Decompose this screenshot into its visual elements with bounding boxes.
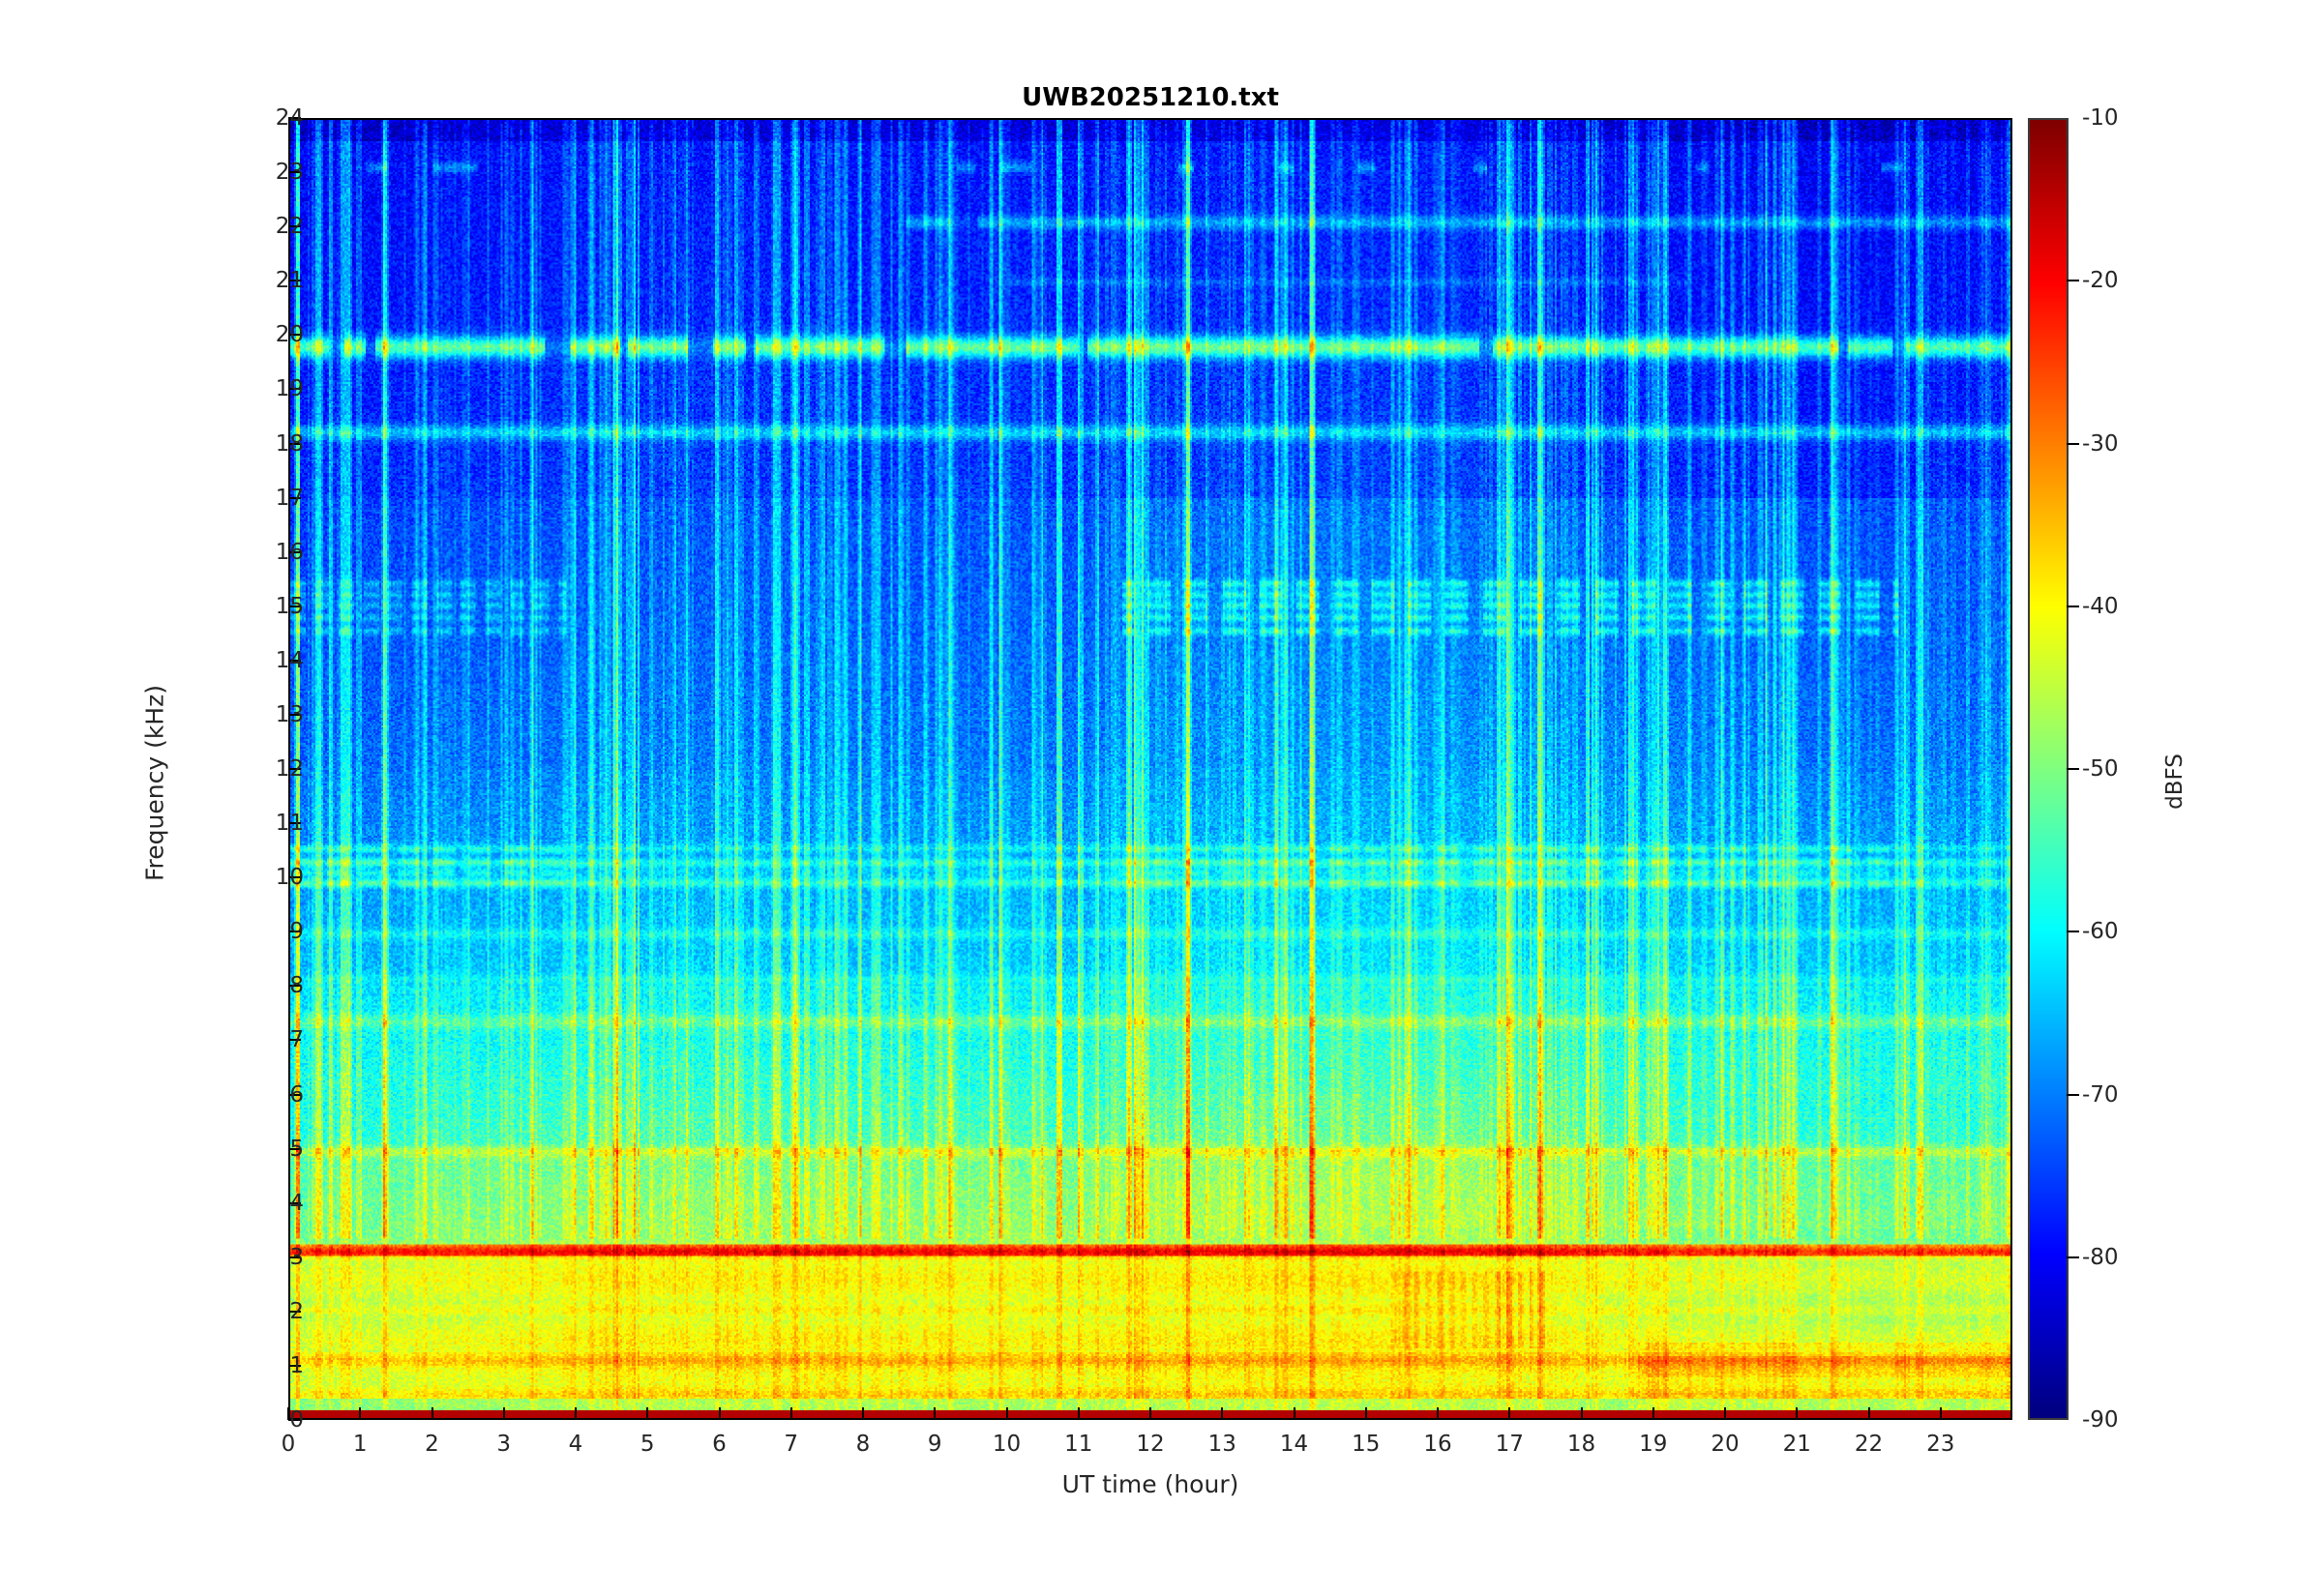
y-tick-label: 14: [188, 648, 304, 673]
x-tick-label: 4: [569, 1432, 583, 1457]
spectrogram-image: [290, 120, 2010, 1418]
x-tick-mark: [287, 1407, 289, 1420]
x-tick-label: 21: [1783, 1432, 1811, 1457]
x-tick-label: 11: [1064, 1432, 1092, 1457]
x-tick-mark: [862, 1407, 864, 1420]
colorbar-label: dBFS: [2162, 656, 2188, 907]
y-tick-label: 13: [188, 702, 304, 727]
x-tick-mark: [1365, 1407, 1367, 1420]
x-tick-mark: [1149, 1407, 1151, 1420]
colorbar-tick-label: -90: [2082, 1407, 2119, 1433]
x-tick-label: 9: [928, 1432, 942, 1457]
x-tick-mark: [1796, 1407, 1798, 1420]
x-tick-mark: [1221, 1407, 1223, 1420]
x-tick-label: 15: [1352, 1432, 1380, 1457]
y-axis-label: Frequency (kHz): [141, 590, 169, 977]
x-tick-label: 2: [425, 1432, 439, 1457]
x-tick-label: 6: [712, 1432, 727, 1457]
colorbar-tick-label: -10: [2082, 105, 2119, 131]
x-tick-label: 23: [1926, 1432, 1954, 1457]
colorbar-tick-mark: [2067, 931, 2079, 932]
x-tick-label: 0: [282, 1432, 296, 1457]
x-tick-mark: [432, 1407, 433, 1420]
x-tick-mark: [1940, 1407, 1942, 1420]
x-tick-label: 5: [640, 1432, 655, 1457]
x-tick-mark: [359, 1407, 361, 1420]
y-tick-label: 10: [188, 865, 304, 890]
x-tick-label: 20: [1711, 1432, 1739, 1457]
y-tick-label: 20: [188, 322, 304, 347]
y-tick-label: 0: [188, 1407, 304, 1433]
x-tick-label: 17: [1496, 1432, 1524, 1457]
x-tick-mark: [934, 1407, 936, 1420]
colorbar-tick-label: -60: [2082, 919, 2119, 944]
x-tick-mark: [1006, 1407, 1008, 1420]
colorbar-tick-mark: [2067, 606, 2079, 607]
y-tick-label: 4: [188, 1191, 304, 1216]
colorbar-tick-mark: [2067, 768, 2079, 770]
x-tick-label: 19: [1639, 1432, 1667, 1457]
x-tick-mark: [1581, 1407, 1583, 1420]
spectrogram-plot-area: [288, 118, 2012, 1420]
x-tick-label: 1: [353, 1432, 368, 1457]
colorbar-tick-mark: [2067, 1094, 2079, 1096]
x-tick-mark: [719, 1407, 721, 1420]
x-tick-label: 22: [1855, 1432, 1883, 1457]
colorbar-tick-mark: [2067, 443, 2079, 445]
colorbar-tick-label: -40: [2082, 594, 2119, 619]
colorbar-tick-label: -20: [2082, 268, 2119, 293]
x-tick-mark: [790, 1407, 792, 1420]
x-tick-mark: [1868, 1407, 1870, 1420]
y-tick-label: 11: [188, 811, 304, 836]
x-tick-label: 10: [993, 1432, 1021, 1457]
x-tick-label: 8: [856, 1432, 871, 1457]
y-tick-label: 22: [188, 214, 304, 239]
colorbar: [2028, 118, 2069, 1420]
x-tick-label: 3: [496, 1432, 511, 1457]
x-tick-mark: [1294, 1407, 1295, 1420]
y-tick-label: 23: [188, 160, 304, 185]
y-tick-label: 2: [188, 1299, 304, 1324]
y-tick-label: 15: [188, 594, 304, 619]
x-tick-mark: [1078, 1407, 1080, 1420]
colorbar-tick-label: -50: [2082, 756, 2119, 782]
y-tick-label: 6: [188, 1082, 304, 1108]
colorbar-tick-mark: [2067, 1256, 2079, 1258]
x-tick-mark: [503, 1407, 505, 1420]
x-tick-label: 7: [784, 1432, 798, 1457]
y-tick-label: 17: [188, 486, 304, 511]
colorbar-tick-mark: [2067, 280, 2079, 281]
x-tick-mark: [1652, 1407, 1654, 1420]
y-tick-label: 7: [188, 1027, 304, 1052]
x-tick-label: 14: [1280, 1432, 1308, 1457]
y-tick-label: 19: [188, 376, 304, 401]
y-tick-label: 8: [188, 973, 304, 998]
y-tick-label: 21: [188, 268, 304, 293]
colorbar-tick-label: -70: [2082, 1082, 2119, 1108]
x-tick-label: 16: [1423, 1432, 1451, 1457]
y-tick-label: 5: [188, 1137, 304, 1162]
page-title: UWB20251210.txt: [288, 83, 2012, 112]
x-tick-mark: [1724, 1407, 1726, 1420]
x-tick-label: 18: [1567, 1432, 1595, 1457]
y-tick-label: 24: [188, 105, 304, 131]
y-tick-label: 12: [188, 756, 304, 782]
x-tick-label: 13: [1208, 1432, 1236, 1457]
y-tick-label: 16: [188, 540, 304, 565]
y-tick-label: 9: [188, 919, 304, 944]
colorbar-tick-label: -80: [2082, 1245, 2119, 1270]
x-axis-label: UT time (hour): [288, 1470, 2012, 1498]
colorbar-gradient: [2030, 120, 2067, 1418]
colorbar-tick-label: -30: [2082, 431, 2119, 457]
x-tick-mark: [1508, 1407, 1510, 1420]
y-tick-label: 18: [188, 431, 304, 457]
x-tick-mark: [575, 1407, 577, 1420]
x-tick-mark: [1437, 1407, 1439, 1420]
y-tick-label: 3: [188, 1245, 304, 1270]
x-tick-mark: [646, 1407, 648, 1420]
y-tick-label: 1: [188, 1353, 304, 1378]
x-tick-label: 12: [1136, 1432, 1164, 1457]
spectrogram-figure: UWB20251210.txt Frequency (kHz) UT time …: [0, 0, 2322, 1596]
